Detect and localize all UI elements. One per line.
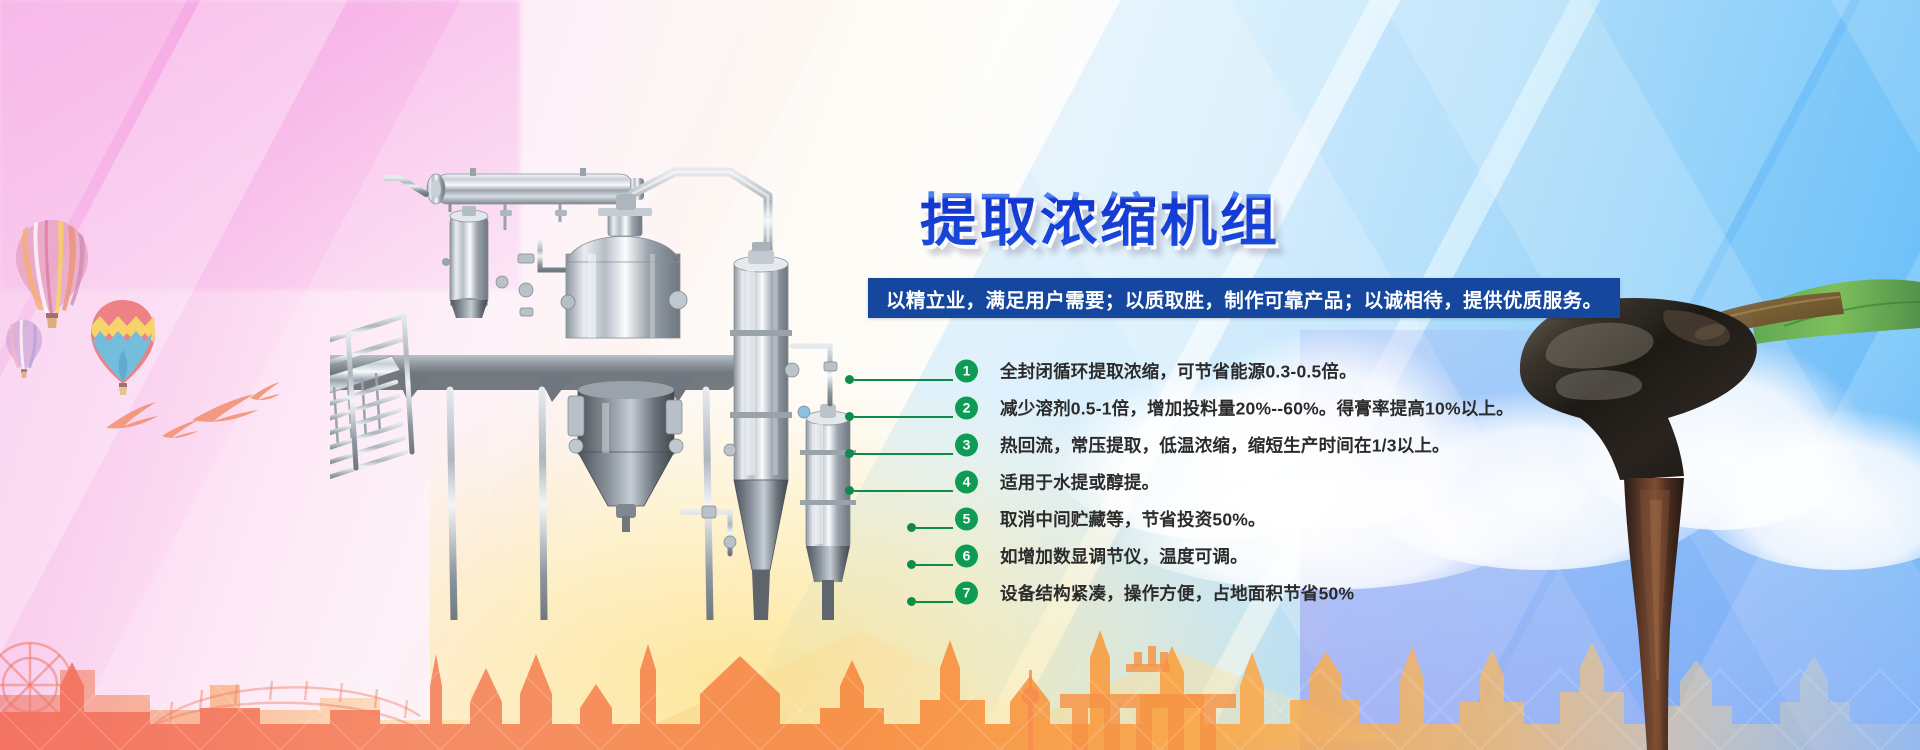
connector-line	[845, 371, 953, 389]
connector-stroke	[854, 490, 953, 492]
connector-line	[845, 482, 953, 500]
feature-number-badge: 3	[955, 433, 978, 456]
connector-stroke	[854, 416, 953, 418]
feature-item: 4 适用于水提或醇提。	[845, 463, 1625, 500]
feature-item: 7 设备结构紧凑，操作方便，占地面积节省50%	[845, 574, 1625, 611]
extraction-concentration-machine	[330, 150, 890, 620]
connector-dot	[845, 412, 854, 421]
feature-number-badge: 6	[955, 544, 978, 567]
connector-stroke	[916, 564, 953, 566]
feature-number-badge: 4	[955, 470, 978, 493]
feature-text: 减少溶剂0.5-1倍，增加投料量20%--60%。得膏率提高10%以上。	[1000, 395, 1514, 420]
connector-stroke	[854, 453, 953, 455]
product-hero-banner: 提取浓缩机组 以精立业，满足用户需要；以质取胜，制作可靠产品；以诚相待，提供优质…	[0, 0, 1920, 750]
feature-number-badge: 1	[955, 359, 978, 382]
page-title: 提取浓缩机组	[920, 175, 1280, 257]
slogan-banner: 以精立业，满足用户需要；以质取胜，制作可靠产品；以诚相待，提供优质服务。	[868, 278, 1620, 318]
feature-text: 全封闭循环提取浓缩，可节省能源0.3-0.5倍。	[1000, 358, 1357, 383]
feature-list: 1 全封闭循环提取浓缩，可节省能源0.3-0.5倍。 2 减少溶剂0.5-1倍，…	[845, 352, 1625, 611]
connector-line	[907, 593, 953, 611]
feature-text: 适用于水提或醇提。	[1000, 469, 1159, 494]
flying-birds-icon	[100, 370, 330, 480]
connector-dot	[907, 560, 916, 569]
feature-text: 热回流，常压提取，低温浓缩，缩短生产时间在1/3以上。	[1000, 432, 1450, 457]
connector-line	[907, 556, 953, 574]
hot-air-balloon-large	[12, 220, 92, 335]
connector-dot	[845, 486, 854, 495]
connector-dot	[907, 597, 916, 606]
connector-stroke	[916, 527, 953, 529]
connector-dot	[845, 375, 854, 384]
feature-text: 取消中间贮藏等，节省投资50%。	[1000, 506, 1266, 531]
hot-air-balloon-small	[4, 320, 44, 382]
connector-dot	[845, 449, 854, 458]
feature-item: 3 热回流，常压提取，低温浓缩，缩短生产时间在1/3以上。	[845, 426, 1625, 463]
connector-line	[845, 408, 953, 426]
slogan-text: 以精立业，满足用户需要；以质取胜，制作可靠产品；以诚相待，提供优质服务。	[886, 284, 1602, 313]
feature-item: 5 取消中间贮藏等，节省投资50%。	[845, 500, 1625, 537]
feature-item: 6 如增加数显调节仪，温度可调。	[845, 537, 1625, 574]
connector-dot	[907, 523, 916, 532]
connector-line	[845, 445, 953, 463]
feature-text: 设备结构紧凑，操作方便，占地面积节省50%	[1000, 580, 1354, 605]
feature-item: 1 全封闭循环提取浓缩，可节省能源0.3-0.5倍。	[845, 352, 1625, 389]
feature-number-badge: 7	[955, 581, 978, 604]
connector-stroke	[854, 379, 953, 381]
connector-line	[907, 519, 953, 537]
feature-number-badge: 5	[955, 507, 978, 530]
feature-item: 2 减少溶剂0.5-1倍，增加投料量20%--60%。得膏率提高10%以上。	[845, 389, 1625, 426]
feature-number-badge: 2	[955, 396, 978, 419]
feature-text: 如增加数显调节仪，温度可调。	[1000, 543, 1248, 568]
connector-stroke	[916, 601, 953, 603]
